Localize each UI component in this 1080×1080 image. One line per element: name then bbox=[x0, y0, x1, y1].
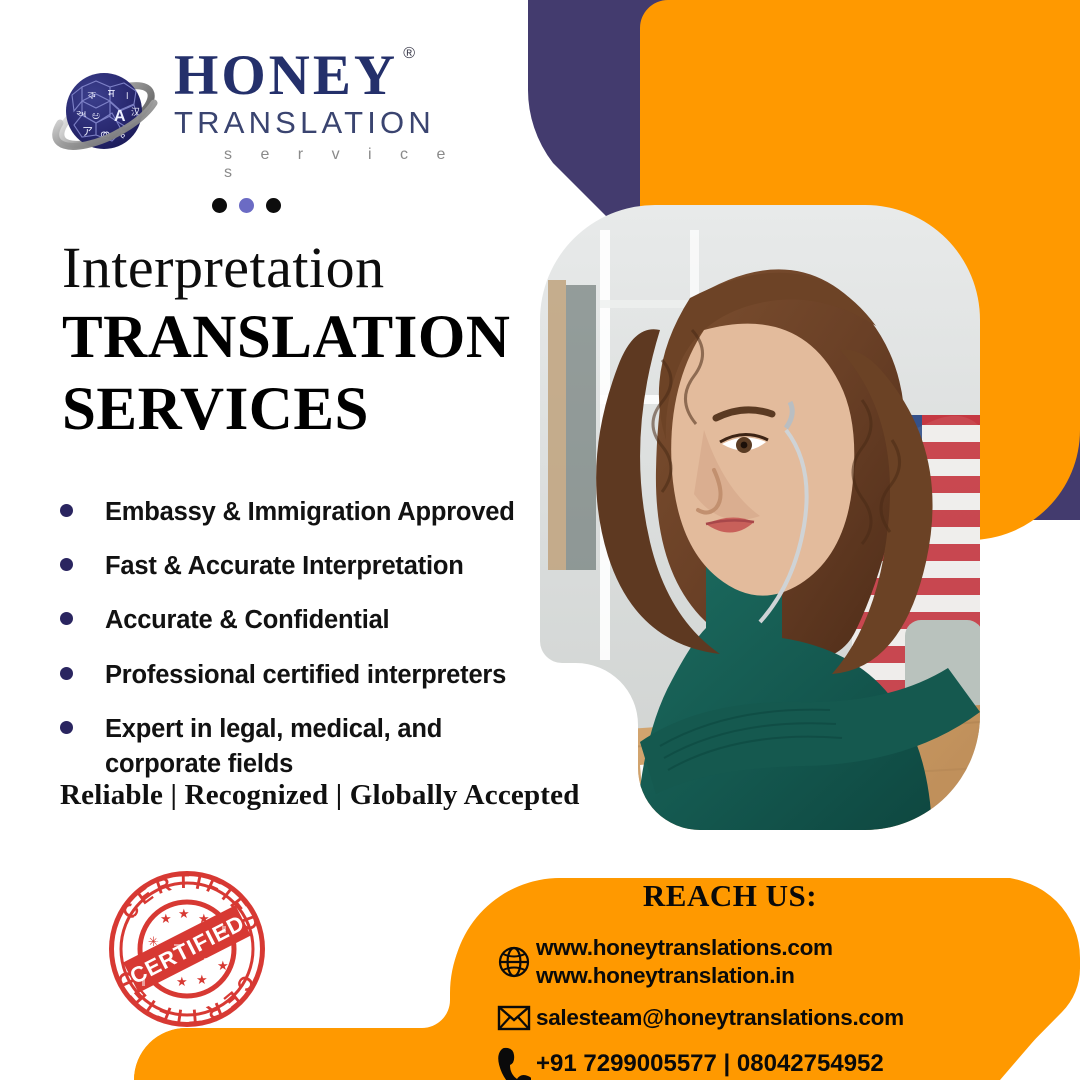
logo-honey-text: HONEY bbox=[174, 44, 398, 107]
reach-us-title: REACH US: bbox=[450, 878, 1010, 914]
poster-canvas: ক म ا અ ಅ A 汉 ア ത ह bbox=[0, 0, 1080, 1080]
envelope-icon bbox=[492, 1004, 536, 1032]
logo-brand-name: HONEY ® bbox=[174, 48, 398, 104]
headline-block: Interpretation TRANSLATION SERVICES bbox=[62, 238, 532, 443]
list-item: Accurate & Confidential bbox=[56, 603, 536, 638]
svg-text:ا: ا bbox=[126, 91, 129, 101]
tagline: Reliable | Recognized | Globally Accepte… bbox=[60, 779, 580, 812]
bullet-dot-icon bbox=[60, 667, 73, 680]
contact-row-website[interactable]: www.honeytranslations.com www.honeytrans… bbox=[492, 934, 1010, 990]
headline-line-1: TRANSLATION bbox=[62, 305, 532, 371]
phone-icon bbox=[492, 1046, 536, 1080]
svg-text:ক: ক bbox=[87, 90, 96, 102]
brand-logo: ক म ا અ ಅ A 汉 ア ത ह bbox=[52, 44, 472, 213]
logo-services-text: s e r v i c e s bbox=[174, 146, 472, 182]
svg-text:ア: ア bbox=[82, 126, 93, 138]
svg-text:म: म bbox=[108, 88, 115, 100]
logo-translation-text: TRANSLATION bbox=[174, 106, 472, 140]
certified-stamp-icon: CERTIFIED CERTIFIED ★ ★ ★ ✳ ★ ★ ★ ★ bbox=[104, 866, 270, 1032]
website-line-2[interactable]: www.honeytranslation.in bbox=[536, 963, 795, 988]
svg-text:★: ★ bbox=[178, 907, 190, 922]
logo-dot-3 bbox=[266, 198, 281, 213]
list-item-label: Professional certified interpreters bbox=[105, 658, 506, 693]
contact-panel: REACH US: www.honeytranslations.com www.… bbox=[470, 878, 1010, 1080]
email-address[interactable]: salesteam@honeytranslations.com bbox=[536, 1004, 904, 1032]
svg-text:અ: અ bbox=[76, 109, 87, 120]
svg-text:★: ★ bbox=[160, 912, 172, 927]
svg-text:★: ★ bbox=[217, 959, 229, 974]
list-item-label: Fast & Accurate Interpretation bbox=[105, 549, 464, 584]
list-item-label: Embassy & Immigration Approved bbox=[105, 495, 515, 530]
list-item-label: Expert in legal, medical, and corporate … bbox=[105, 712, 455, 782]
list-item: Embassy & Immigration Approved bbox=[56, 495, 536, 530]
list-item: Professional certified interpreters bbox=[56, 658, 536, 693]
svg-text:★: ★ bbox=[196, 973, 208, 988]
svg-text:A: A bbox=[114, 108, 126, 125]
globe-icon: ক म ا અ ಅ A 汉 ア ത ह bbox=[52, 59, 160, 167]
list-item-label: Accurate & Confidential bbox=[105, 603, 389, 638]
bullet-dot-icon bbox=[60, 721, 73, 734]
logo-dot-1 bbox=[212, 198, 227, 213]
svg-text:★: ★ bbox=[176, 975, 188, 990]
website-line-1[interactable]: www.honeytranslations.com bbox=[536, 935, 833, 960]
bullet-dot-icon bbox=[60, 558, 73, 571]
logo-dot-2 bbox=[239, 198, 254, 213]
bullet-dot-icon bbox=[60, 612, 73, 625]
bullet-dot-icon bbox=[60, 504, 73, 517]
list-item: Expert in legal, medical, and corporate … bbox=[56, 712, 536, 782]
contact-row-email[interactable]: salesteam@honeytranslations.com bbox=[492, 1004, 1010, 1032]
globe-icon bbox=[492, 945, 536, 979]
registered-trademark-icon: ® bbox=[403, 46, 418, 62]
contact-row-phone[interactable]: +91 7299005577 | 08042754952 bbox=[492, 1046, 1010, 1080]
list-item: Fast & Accurate Interpretation bbox=[56, 549, 536, 584]
phone-numbers[interactable]: +91 7299005577 | 08042754952 bbox=[536, 1049, 884, 1079]
logo-dots bbox=[212, 198, 472, 213]
feature-list: Embassy & Immigration Approved Fast & Ac… bbox=[56, 495, 536, 801]
headline-script-line: Interpretation bbox=[62, 238, 532, 299]
svg-text:ಅ: ಅ bbox=[92, 108, 100, 122]
website-links[interactable]: www.honeytranslations.com www.honeytrans… bbox=[536, 934, 833, 990]
headline-line-2: SERVICES bbox=[62, 377, 532, 443]
